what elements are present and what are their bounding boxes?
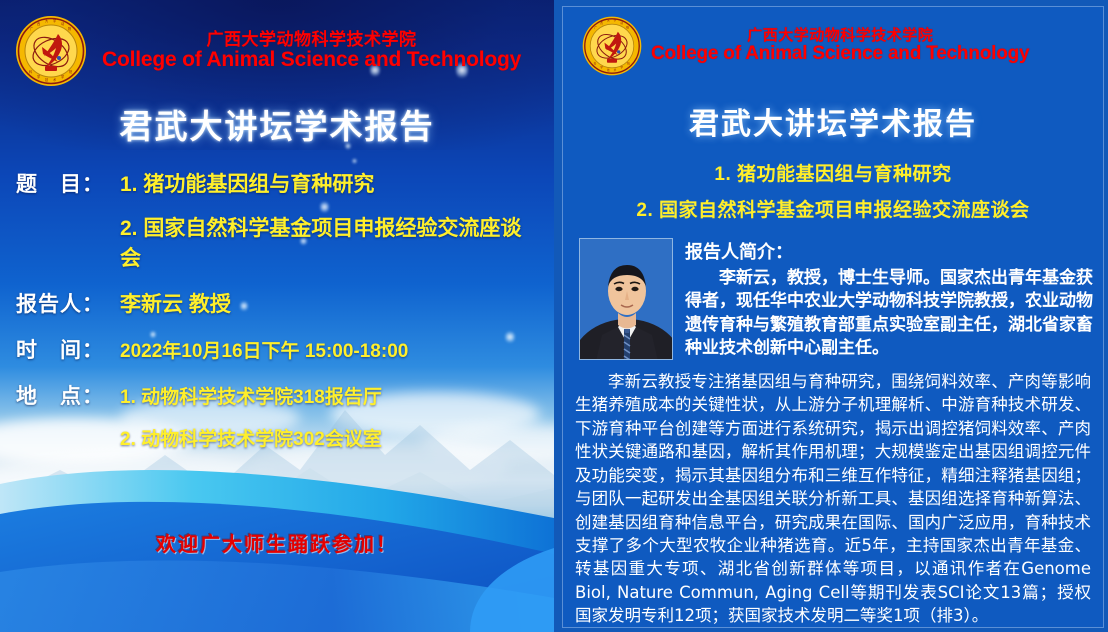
- info-value-topic-2: 2. 国家自然科学基金项目申报经验交流座谈会: [120, 217, 521, 270]
- svg-text:广: 广: [594, 25, 597, 29]
- right-slide-title: 君武大讲坛学术报告: [563, 99, 1103, 143]
- topic-item: 2. 国家自然科学基金项目申报经验交流座谈会: [563, 195, 1103, 222]
- info-label-topic: 题 目：: [16, 168, 120, 198]
- svg-text:物: 物: [626, 25, 629, 29]
- info-value-venue-1: 1. 动物科学技术学院318报告厅: [120, 382, 382, 409]
- topic-item: 1. 猪功能基因组与育种研究: [563, 159, 1103, 186]
- right-slide: 广西大 学动物 科学技 术学院 广西大学动物科学技术学院 College of …: [554, 0, 1108, 632]
- institution-name-en: College of Animal Science and Technology: [651, 44, 1029, 64]
- svg-text:西: 西: [600, 21, 603, 25]
- institution-name-en: College of Animal Science and Technology: [102, 49, 521, 71]
- svg-text:大: 大: [607, 19, 610, 23]
- info-row-topic: 题 目： 1. 猪功能基因组与育种研究: [16, 168, 538, 198]
- svg-text:西: 西: [37, 22, 40, 26]
- institution-name-cn: 广西大学动物科学技术学院: [102, 31, 521, 49]
- svg-text:动: 动: [61, 21, 64, 26]
- poster-stage: 广西大 学动物 科学技 术学院 广西大学动物科学技术学院 College of …: [0, 0, 1108, 632]
- speaker-bio-block: 报告人简介： 李新云，教授，博士生导师。国家杰出青年基金获得者，现任华中农业大学…: [579, 238, 1093, 360]
- svg-text:学: 学: [37, 74, 40, 79]
- left-slide-info-rows: 题 目： 1. 猪功能基因组与育种研究 2. 国家自然科学基金项目申报经验交流座…: [16, 168, 538, 467]
- left-slide-header: 广西大 学动物 科学技 术学院 广西大学动物科学技术学院 College of …: [0, 0, 554, 88]
- college-seal-icon: 广西大 学动物 科学技 术学院: [581, 15, 643, 77]
- info-label-time: 时 间：: [16, 334, 120, 364]
- svg-text:术: 术: [614, 68, 617, 72]
- svg-text:广: 广: [30, 26, 33, 31]
- info-value-speaker: 李新云 教授: [120, 288, 231, 318]
- research-summary-paragraph: 李新云教授专注猪基因组与育种研究，围绕饲料效率、产肉等影响生猪养殖成本的关键性状…: [575, 370, 1091, 628]
- svg-text:科: 科: [594, 61, 597, 65]
- left-slide: 广西大 学动物 科学技 术学院 广西大学动物科学技术学院 College of …: [0, 0, 554, 632]
- info-row-topic-second: 2. 国家自然科学基金项目申报经验交流座谈会: [120, 212, 538, 272]
- speaker-bio-heading: 报告人简介：: [685, 238, 1093, 264]
- right-slide-topics: 1. 猪功能基因组与育种研究 2. 国家自然科学基金项目申报经验交流座谈会: [563, 159, 1103, 222]
- info-row-venue: 地 点： 1. 动物科学技术学院318报告厅: [16, 380, 538, 410]
- svg-text:院: 院: [627, 61, 630, 65]
- info-row-time: 时 间： 2022年10月16日下午 15:00-18:00: [16, 334, 538, 364]
- speaker-bio-text: 报告人简介： 李新云，教授，博士生导师。国家杰出青年基金获得者，现任华中农业大学…: [685, 238, 1093, 360]
- info-label-speaker: 报告人：: [16, 288, 120, 318]
- college-seal-icon: 广西大 学动物 科学技 术学院: [14, 14, 88, 88]
- institution-name: 广西大学动物科学技术学院 College of Animal Science a…: [102, 31, 521, 71]
- welcome-message: 欢迎广大师生踊跃参加！: [0, 528, 554, 557]
- speaker-bio-body: 李新云，教授，博士生导师。国家杰出青年基金获得者，现任华中农业大学动物科技学院教…: [685, 266, 1093, 360]
- info-label-venue: 地 点：: [16, 380, 120, 410]
- svg-text:学: 学: [614, 19, 617, 23]
- svg-text:技: 技: [607, 68, 610, 72]
- svg-text:动: 动: [620, 21, 623, 25]
- bokeh-particle: [352, 158, 357, 164]
- institution-name: 广西大学动物科学技术学院 College of Animal Science a…: [651, 28, 1029, 64]
- right-slide-inner: 广西大 学动物 科学技 术学院 广西大学动物科学技术学院 College of …: [562, 6, 1104, 628]
- left-slide-title: 君武大讲坛学术报告: [0, 100, 554, 148]
- right-slide-header: 广西大 学动物 科学技 术学院 广西大学动物科学技术学院 College of …: [563, 7, 1103, 77]
- svg-text:学: 学: [61, 74, 64, 79]
- info-value-time: 2022年10月16日下午 15:00-18:00: [120, 336, 408, 363]
- svg-text:学: 学: [53, 18, 56, 23]
- speaker-portrait: [579, 238, 673, 360]
- institution-name-cn: 广西大学动物科学技术学院: [651, 28, 1029, 44]
- info-value-topic-1: 1. 猪功能基因组与育种研究: [120, 168, 374, 198]
- svg-text:学: 学: [600, 66, 603, 70]
- info-row-venue-second: 2. 动物科学技术学院302会议室: [120, 424, 538, 451]
- svg-text:学: 学: [620, 66, 623, 70]
- info-row-speaker: 报告人： 李新云 教授: [16, 288, 538, 318]
- info-value-venue-2: 2. 动物科学技术学院302会议室: [120, 429, 382, 450]
